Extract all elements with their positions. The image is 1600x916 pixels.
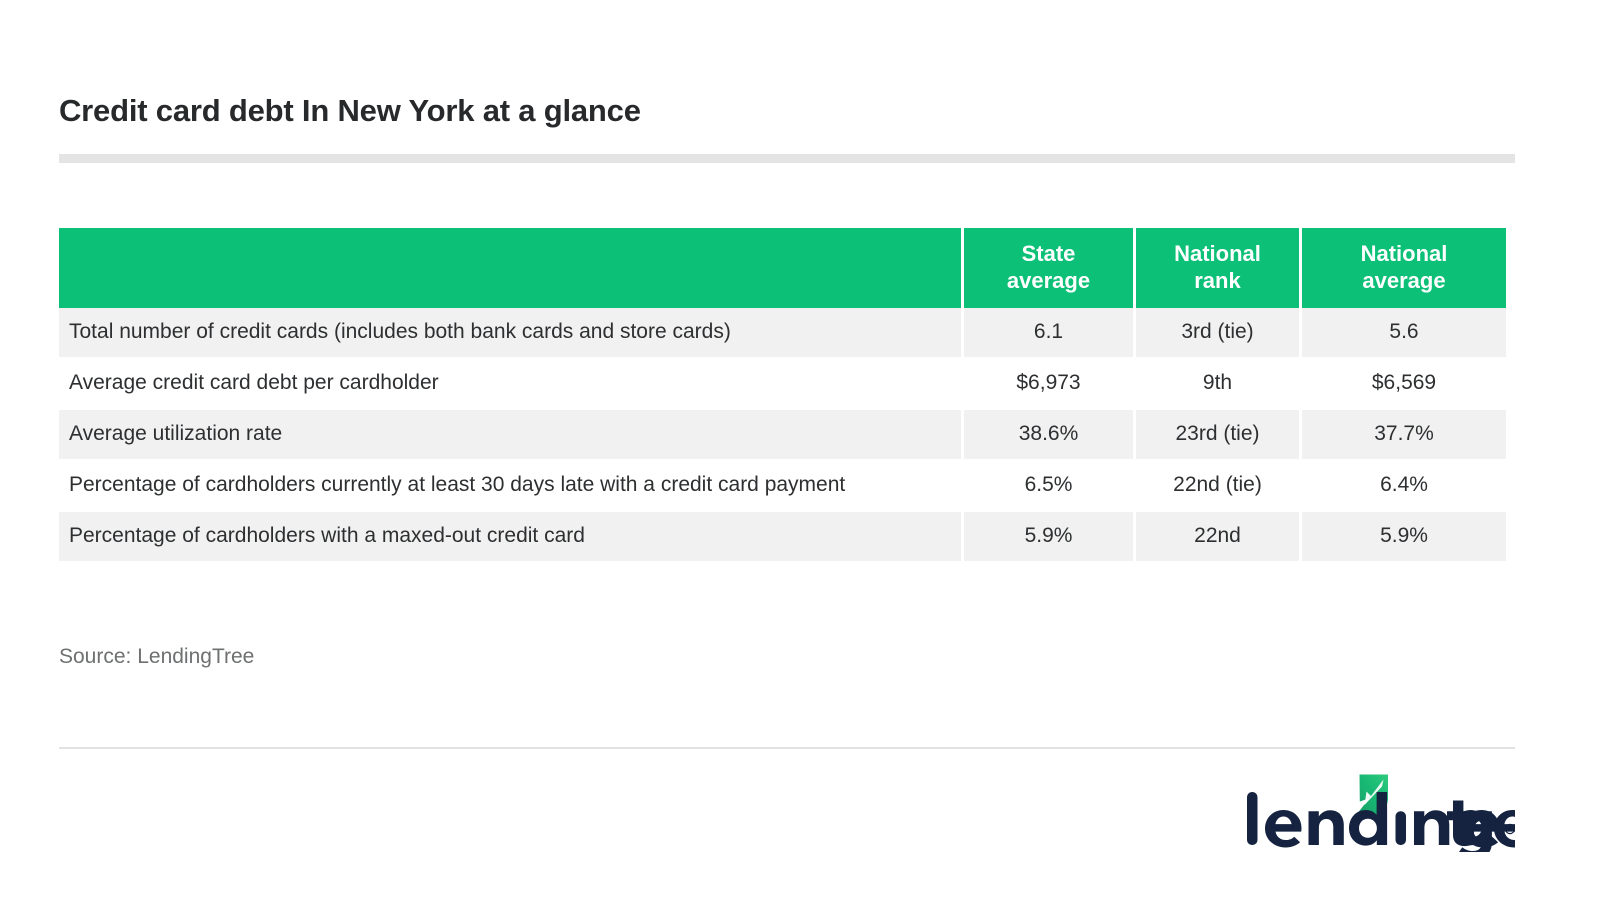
footer-divider bbox=[59, 747, 1515, 749]
row-label: Percentage of cardholders currently at l… bbox=[59, 461, 964, 512]
page-title: Credit card debt In New York at a glance bbox=[59, 93, 641, 129]
row-national-average: 6.4% bbox=[1302, 461, 1506, 512]
row-state-average: $6,973 bbox=[964, 359, 1136, 410]
row-national-rank: 22nd bbox=[1136, 512, 1302, 563]
credit-card-debt-table: State average National rank National ave… bbox=[59, 228, 1506, 563]
column-header-state-average-line2: average bbox=[1007, 268, 1090, 293]
infographic-page: Credit card debt In New York at a glance… bbox=[0, 0, 1600, 916]
column-header-state-average-line1: State bbox=[1022, 241, 1076, 266]
row-label: Average utilization rate bbox=[59, 410, 964, 461]
row-national-average: 37.7% bbox=[1302, 410, 1506, 461]
row-state-average: 5.9% bbox=[964, 512, 1136, 563]
column-header-national-rank-line1: National bbox=[1174, 241, 1261, 266]
source-note: Source: LendingTree bbox=[59, 645, 254, 669]
column-header-national-rank: National rank bbox=[1136, 228, 1302, 308]
table-body: Total number of credit cards (includes b… bbox=[59, 308, 1506, 563]
row-national-average: $6,569 bbox=[1302, 359, 1506, 410]
row-national-rank: 9th bbox=[1136, 359, 1302, 410]
table-row: Average utilization rate 38.6% 23rd (tie… bbox=[59, 410, 1506, 461]
column-header-metric bbox=[59, 228, 964, 308]
column-header-national-average-line2: average bbox=[1362, 268, 1445, 293]
logo-wordmark bbox=[1247, 792, 1515, 852]
column-header-state-average: State average bbox=[964, 228, 1136, 308]
column-header-national-rank-line2: rank bbox=[1194, 268, 1240, 293]
row-label: Percentage of cardholders with a maxed-o… bbox=[59, 512, 964, 563]
table-row: Total number of credit cards (includes b… bbox=[59, 308, 1506, 359]
table-row: Average credit card debt per cardholder … bbox=[59, 359, 1506, 410]
row-national-rank: 3rd (tie) bbox=[1136, 308, 1302, 359]
row-label: Average credit card debt per cardholder bbox=[59, 359, 964, 410]
column-header-national-average-line1: National bbox=[1361, 241, 1448, 266]
row-national-average: 5.9% bbox=[1302, 512, 1506, 563]
table-header-row: State average National rank National ave… bbox=[59, 228, 1506, 308]
row-label: Total number of credit cards (includes b… bbox=[59, 308, 964, 359]
row-national-rank: 22nd (tie) bbox=[1136, 461, 1302, 512]
table-header: State average National rank National ave… bbox=[59, 228, 1506, 308]
row-state-average: 6.5% bbox=[964, 461, 1136, 512]
table-row: Percentage of cardholders currently at l… bbox=[59, 461, 1506, 512]
row-national-average: 5.6 bbox=[1302, 308, 1506, 359]
title-divider bbox=[59, 154, 1515, 163]
svg-text:R: R bbox=[1508, 828, 1513, 834]
row-state-average: 38.6% bbox=[964, 410, 1136, 461]
row-state-average: 6.1 bbox=[964, 308, 1136, 359]
row-national-rank: 23rd (tie) bbox=[1136, 410, 1302, 461]
table-row: Percentage of cardholders with a maxed-o… bbox=[59, 512, 1506, 563]
lendingtree-logo: R bbox=[1243, 772, 1515, 852]
column-header-national-average: National average bbox=[1302, 228, 1506, 308]
